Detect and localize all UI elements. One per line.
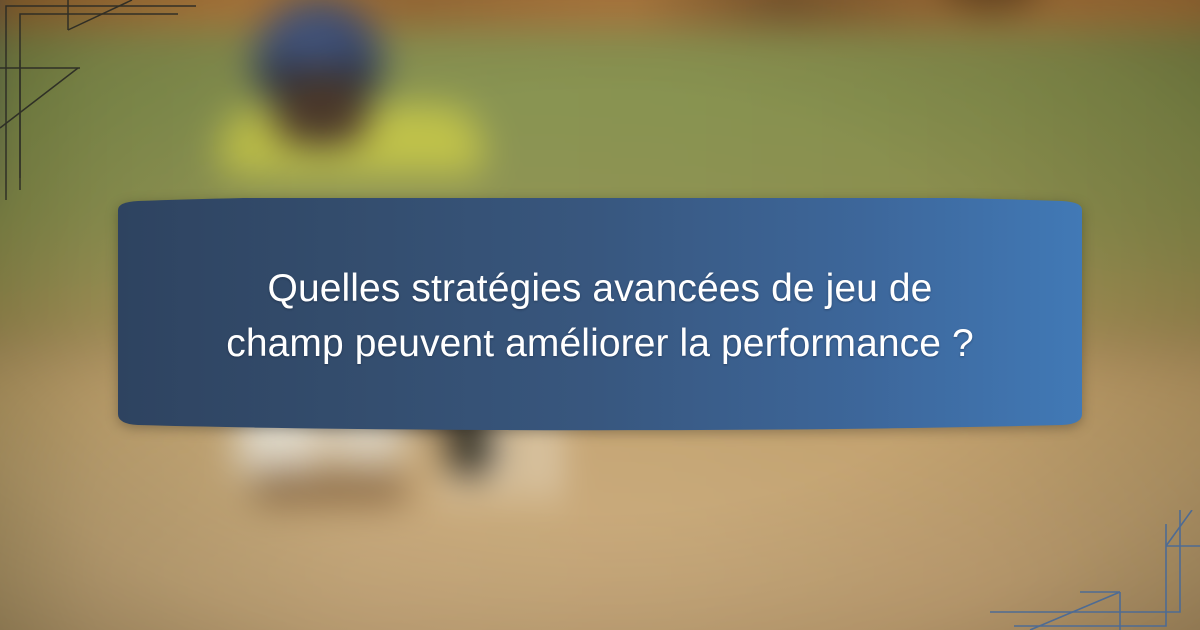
headline-text-block: Quelles stratégies avancées de jeu de ch… (96, 198, 1104, 434)
player-face (274, 77, 369, 147)
page-title: Quelles stratégies avancées de jeu de ch… (205, 261, 995, 372)
share-card-stage: Quelles stratégies avancées de jeu de ch… (0, 0, 1200, 630)
headline-banner: Quelles stratégies avancées de jeu de ch… (96, 198, 1104, 434)
player-shoes (250, 469, 409, 505)
